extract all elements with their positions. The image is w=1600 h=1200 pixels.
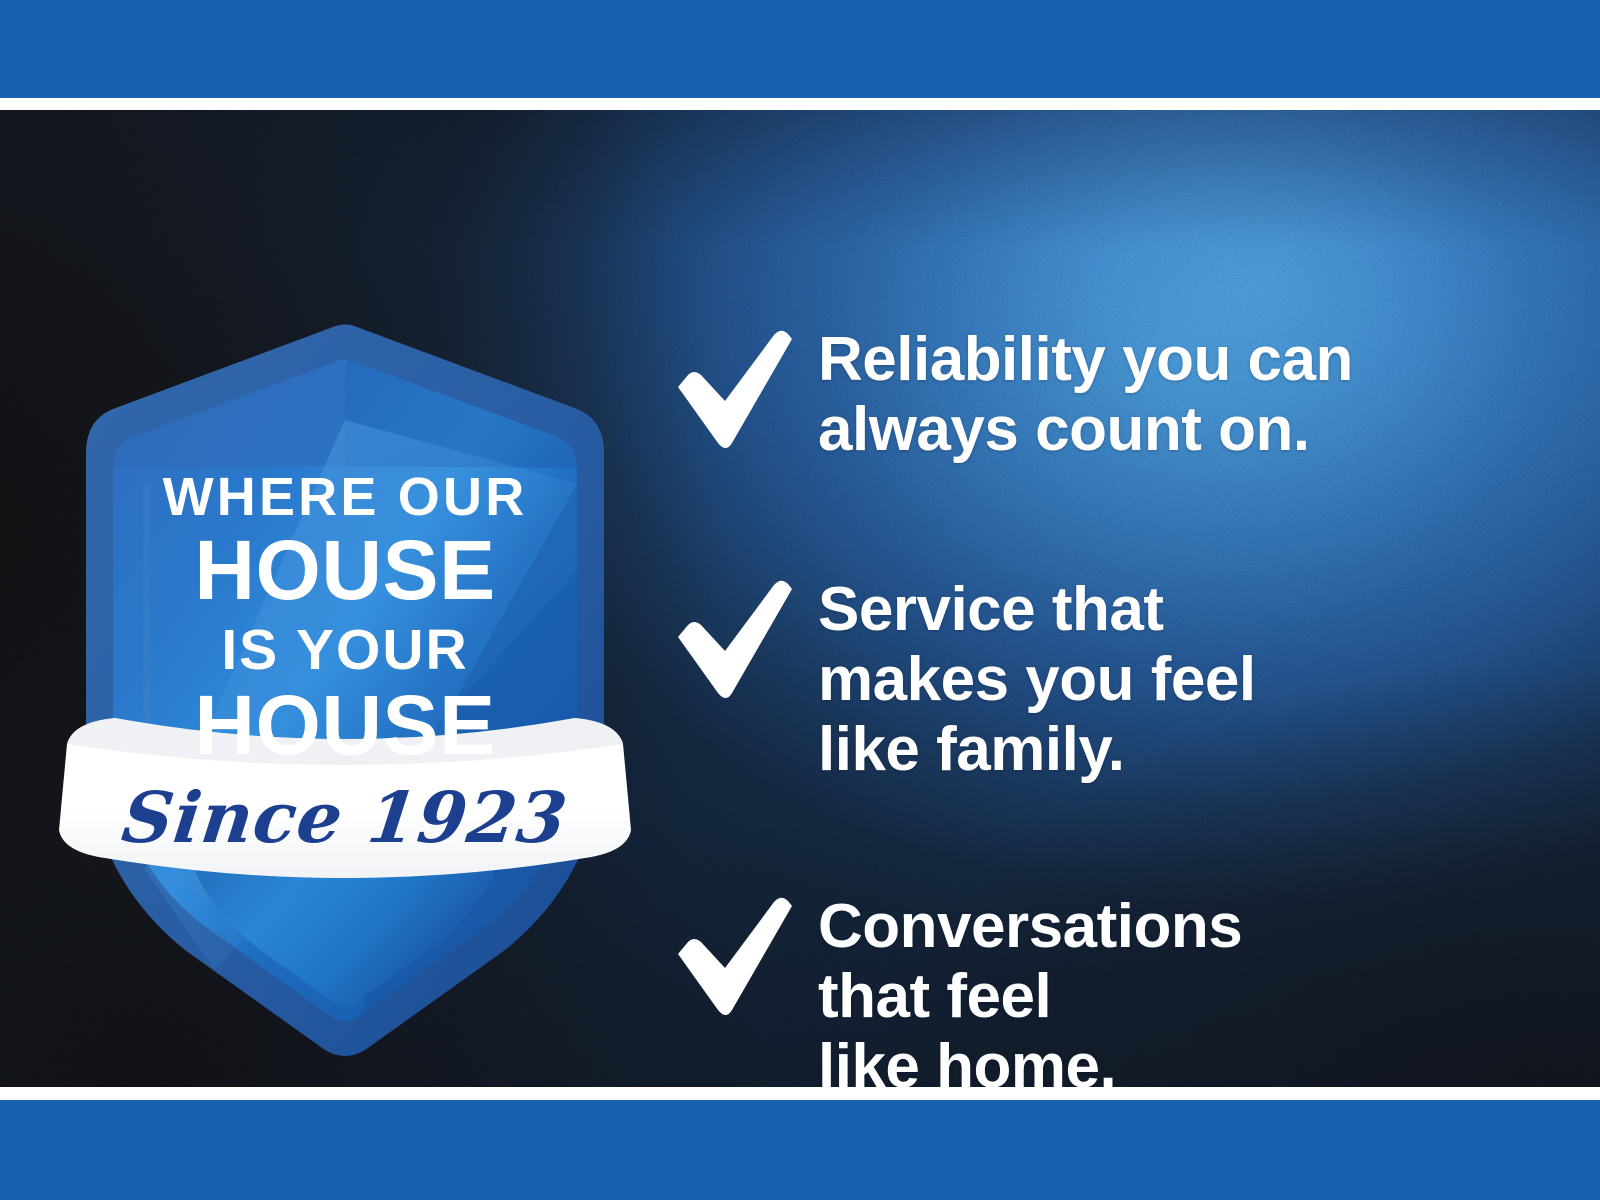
benefit-item: Service that makes you feel like family. xyxy=(668,575,1256,785)
benefits-list: Reliability you can always count on. Ser… xyxy=(668,220,1568,1087)
benefit-item: Conversations that feel like home. xyxy=(668,892,1242,1087)
company-shield-logo: WHERE OUR HOUSE IS YOUR HOUSE Since 1923 xyxy=(55,270,635,1060)
benefit-item: Reliability you can always count on. xyxy=(668,325,1353,465)
checkmark-icon xyxy=(668,892,818,1016)
benefit-text: Conversations that feel like home. xyxy=(818,892,1242,1087)
benefit-text: Service that makes you feel like family. xyxy=(818,575,1256,785)
poster-stage: WHERE OUR HOUSE IS YOUR HOUSE Since 1923… xyxy=(0,110,1600,1087)
promo-poster: WHERE OUR HOUSE IS YOUR HOUSE Since 1923… xyxy=(0,0,1600,1200)
shield-graphic xyxy=(55,270,635,1060)
top-brand-bar xyxy=(0,0,1600,98)
checkmark-icon xyxy=(668,325,818,449)
bottom-brand-bar xyxy=(0,1100,1600,1200)
benefit-text: Reliability you can always count on. xyxy=(818,325,1353,465)
checkmark-icon xyxy=(668,575,818,699)
